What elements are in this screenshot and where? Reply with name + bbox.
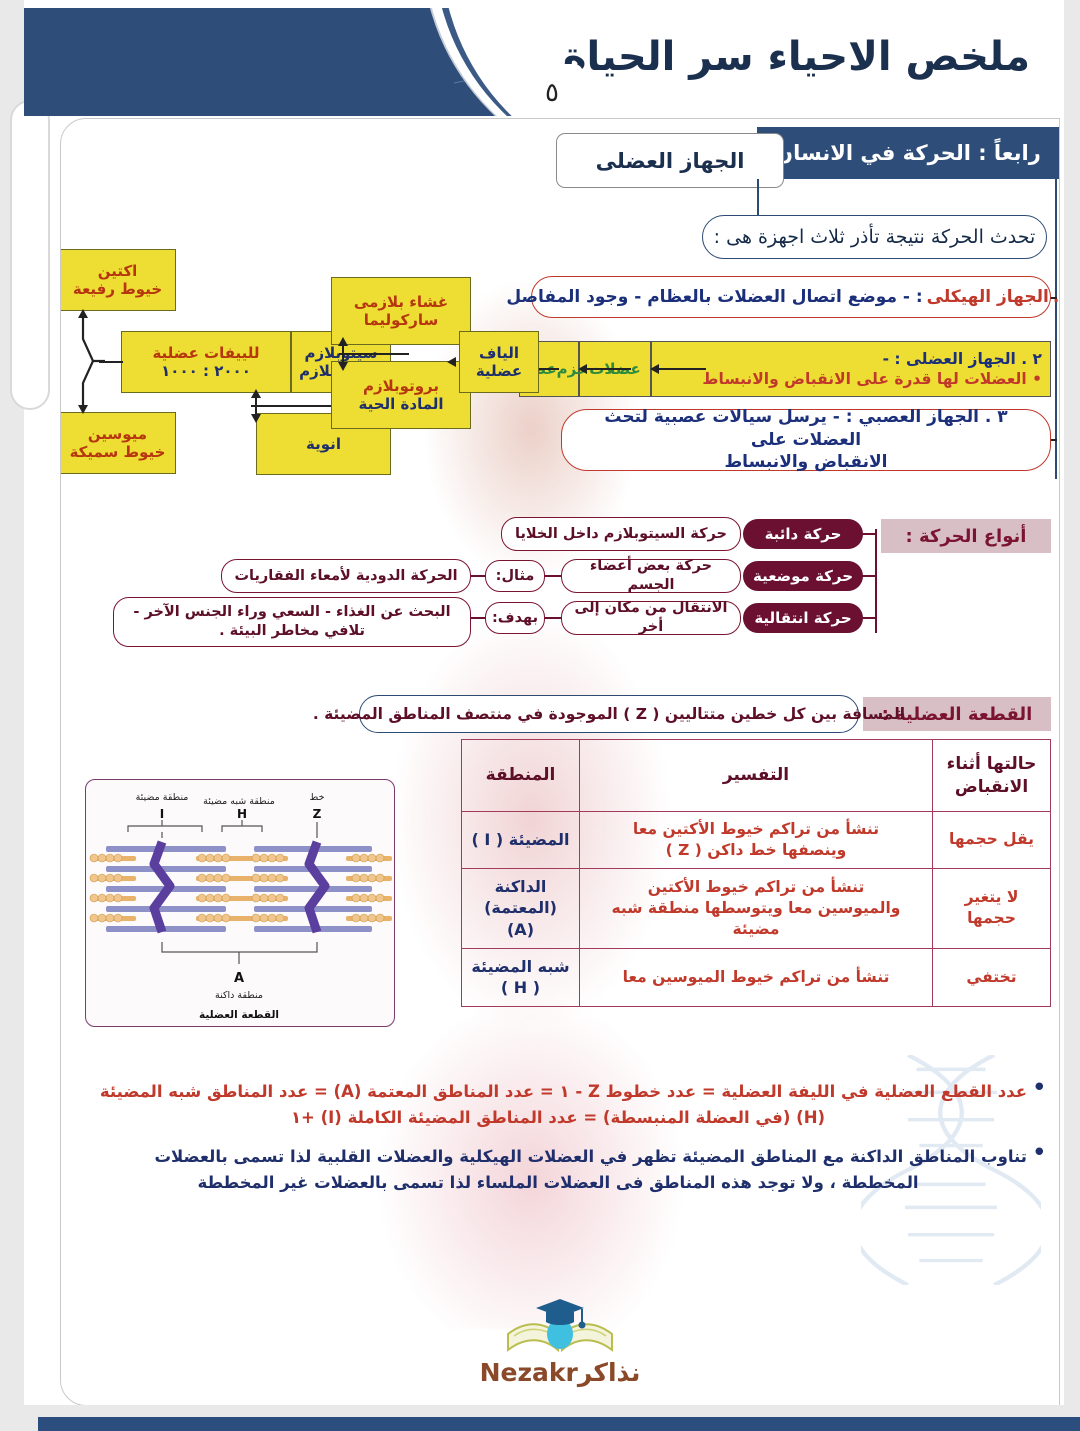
double-arrow-2-down [251,414,261,423]
system-muscular: ٢ . الجهاز العضلى : - • العضلات لها قدرة… [651,341,1051,397]
struct-box-myosin: ميوسين خيوط سميكة [60,412,176,474]
struct-fibers-line2: عضلية [476,362,522,380]
protoplasm-line1: بروتوبلازم [363,377,439,395]
sarcomere-illustration: منطقة مضيئة منطقة شبه مضيئة خط I H Z [85,779,395,1027]
myofibrils-line2: ٢٠٠٠ : ١٠٠٠ [161,362,251,380]
cell-zone-1-line3: (A) [470,919,571,941]
cell-state-0: يقل حجمها [933,812,1051,869]
movement-link-2 [545,617,561,619]
system-nervous-line1: ٣ . الجهاز العصبي : - يرسل سيالات عصبية … [576,406,1036,452]
section-subtitle: الجهاز العضلى [556,133,784,188]
sarcomere-svg: منطقة مضيئة منطقة شبه مضيئة خط I H Z [84,780,394,1028]
diagram-label-I: I [160,807,164,821]
movement-type-2: حركة انتقالية [743,603,863,633]
protoplasm-line2: المادة الحية [358,395,443,413]
movement-desc-0: حركة السيتوبلازم داخل الخلايا [501,517,741,551]
diagram-label-A: A [234,971,244,986]
myofibrils-line1: للييفات عضلية [152,344,259,362]
cell-state-1-line2: حجمها [941,908,1042,929]
notes-list: عدد القطع العضلية في الليفة العضلية = عد… [89,1079,1049,1209]
cell-explanation-1: تنشأ من تراكم خيوط الأكتين والميوسين معا… [580,868,933,948]
double-arrow-1-line [339,353,409,355]
system-muscular-group: ٢ . الجهاز العضلى : - • العضلات لها قدرة… [495,341,1051,397]
table-row: تختفي تنشأ من تراكم خيوط الميوسين معا شب… [462,948,1051,1006]
sarcomere-definition: المسافة بين كل خطين متتاليين ( Z ) الموج… [359,695,859,733]
chain-arrow-2-line [586,368,631,370]
section-title: رابعاً : الحركة في الانسان [757,127,1059,179]
system-muscular-line1: ٢ . الجهاز العضلى : - [660,349,1042,369]
header-banner: ملخص الاحياء سر الحياة ٥ [24,8,1064,116]
movement-link-1 [545,575,561,577]
movement-types-header: أنواع الحركة : [881,519,1051,553]
membrane-line1: غشاء بلازمى [354,293,448,311]
struct-fibers-line1: الياف [479,344,519,362]
chain-arrow-1-line [658,368,706,370]
cell-zone-2: شبه المضيئة ( H ) [462,948,580,1006]
page-root: ملخص الاحياء سر الحياة ٥ رابعاً : الحركة… [0,0,1080,1431]
content-sheet: رابعاً : الحركة في الانسان الجهاز العضلى… [60,118,1060,1406]
right-gutter [1064,0,1080,1431]
movement-detail-2-line2: تلافي مخاطر البيئة . [219,622,365,641]
system-skeletal-name: الجهاز الهيكلى [923,286,1053,309]
double-arrow-1-stem [342,344,344,364]
system-muscular-line2: • العضلات لها قدرة على الانقباض والانبسا… [660,369,1042,389]
diagram-label-I-top: منطقة مضيئة [136,792,189,803]
cell-state-2: تختفي [933,948,1051,1006]
movement-link-2b [471,617,485,619]
sarcomere-table: حالتها أثناء الانقباض التفسير المنطقة يق… [461,739,1051,1007]
diagram-label-H-top: منطقة شبه مضيئة [203,796,275,807]
table-header-row: حالتها أثناء الانقباض التفسير المنطقة [462,740,1051,812]
movement-connector-2 [861,617,877,619]
actin-line1: اكتين [98,262,138,280]
double-arrow-2-stem [255,396,257,416]
chain-arrow-1-head [650,364,659,374]
brand-name: نذاكرNezakr [61,1358,1059,1387]
actin-line2: خيوط رفيعة [73,280,162,298]
left-gutter-tab [10,100,50,410]
branch-up-head [78,309,88,318]
spine-vertical-left [757,179,759,217]
note-item-1: تناوب المناطق الداكنة مع المناطق المضيئة… [89,1144,1049,1195]
cell-zone-2-line1: شبه المضيئة [470,956,571,978]
membrane-line2: ساركوليما [364,311,439,329]
diagram-label-Z: Z [313,807,322,821]
th-zone: المنطقة [462,740,580,812]
th-explanation: التفسير [580,740,933,812]
fibers-inbound-arrow [447,357,456,367]
movement-tag-1: مثال: [485,560,545,592]
movement-desc-2: الانتقال من مكان إلى أخر [561,601,741,635]
note-0-line1: عدد القطع العضلية في الليفة العضلية = عد… [89,1079,1027,1105]
cell-zone-0: المضيئة ( I ) [462,812,580,869]
movement-connector-1 [861,575,877,577]
struct-box-actin: اكتين خيوط رفيعة [60,249,176,311]
cell-explanation-2: تنشأ من تراكم خيوط الميوسين معا [580,948,933,1006]
system-skeletal: ١ . الجهاز الهيكلى : - موضع اتصال العضلا… [531,276,1051,318]
struct-box-protoplasm: بروتوبلازم المادة الحية [331,361,471,429]
double-arrow-1-down [338,362,348,371]
muscle-structure-diagram: اكتين خيوط رفيعة ميوسين خيوط سميكة للييف… [60,249,479,474]
diagram-label-A-bottom: منطقة داكنة [215,990,263,1001]
cell-zone-1-line2: (المعتمة) [470,897,571,919]
note-0-line2: (H) (في العضلة المنبسطة) = عدد المناطق ا… [89,1105,1027,1131]
movement-tag-2: بهدف: [485,602,545,634]
cell-explanation-0-line1: تنشأ من تراكم خيوط الأكتين معا [588,819,924,840]
struct-box-myofibrils: للييفات عضلية ٢٠٠٠ : ١٠٠٠ [121,331,291,393]
myosin-line2: خيوط سميكة [70,443,166,461]
struct-box-membrane: غشاء بلازمى ساركوليما [331,277,471,345]
movement-link-1b [471,575,485,577]
diagram-label-Z-top: خط [310,792,325,803]
cell-state-1: لا يتغير حجمها [933,868,1051,948]
cell-zone-2-line2: ( H ) [470,977,571,999]
movement-type-0: حركة دائبة [743,519,863,549]
double-arrow-2-line [251,405,331,407]
cell-zone-1-line1: الداكنة [470,876,571,898]
cell-explanation-1-line3: مضيئة [588,919,924,940]
graduation-book-icon [500,1290,620,1358]
th-state: حالتها أثناء الانقباض [933,740,1051,812]
chain-arrow-2-head [578,364,587,374]
movement-detail-2: البحث عن الغذاء - السعي وراء الجنس الآخر… [113,597,471,647]
table-row: لا يتغير حجمها تنشأ من تراكم خيوط الأكتي… [462,868,1051,948]
system-skeletal-text: : - موضع اتصال العضلات بالعظام - وجود ال… [506,286,922,309]
double-arrow-1-up [338,337,348,346]
diagram-label-H: H [237,807,247,821]
system-nervous-line2: الانقباض والانبساط [576,451,1036,474]
note-item-0: عدد القطع العضلية في الليفة العضلية = عد… [89,1079,1049,1130]
cell-explanation-1-line1: تنشأ من تراكم خيوط الأكتين [588,877,924,898]
movement-connector-0 [861,533,877,535]
system-nervous: ٣ . الجهاز العصبي : - يرسل سيالات عصبية … [561,409,1051,471]
cell-explanation-0: تنشأ من تراكم خيوط الأكتين معا وينصفها خ… [580,812,933,869]
double-arrow-2-up [251,389,261,398]
note-1-line2: المخططة ، ولا توجد هذه المناطق فى العضلا… [89,1170,1027,1196]
myosin-line1: ميوسين [88,425,147,443]
note-1-line1: تناوب المناطق الداكنة مع المناطق المضيئة… [89,1144,1027,1170]
movement-detail-1: الحركة الدودية لأمعاء الفقاريات [221,559,471,593]
diagram-caption: القطعة العضلية [199,1009,279,1021]
system-skeletal-index: ١ . [1053,286,1060,309]
cell-state-1-line1: لا يتغير [941,887,1042,908]
cell-explanation-1-line2: والميوسين معا ويتوسطها منطقة شبه [588,898,924,919]
footer-logo: نذاكرNezakr [61,1290,1059,1387]
movement-desc-1: حركة بعض أعضاء الجسم [561,559,741,593]
cell-explanation-0-line2: وينصفها خط داكن ( Z ) [588,840,924,861]
branch-down-head [78,405,88,414]
intro-pill: تحدث الحركة نتيجة تأذر ثلاث اجهزة هى : [702,215,1047,259]
movement-detail-2-line1: البحث عن الغذاء - السعي وراء الجنس الآخر… [133,603,450,622]
cell-zone-1: الداكنة (المعتمة) (A) [462,868,580,948]
movement-type-1: حركة موضعية [743,561,863,591]
table-row: يقل حجمها تنشأ من تراكم خيوط الأكتين معا… [462,812,1051,869]
page-number-badge: ٥ [521,64,583,116]
struct-box-muscle-fibers: الياف عضلية [459,331,539,393]
spine-vertical-main [1055,179,1057,479]
bottom-blue-bar [38,1417,1080,1431]
